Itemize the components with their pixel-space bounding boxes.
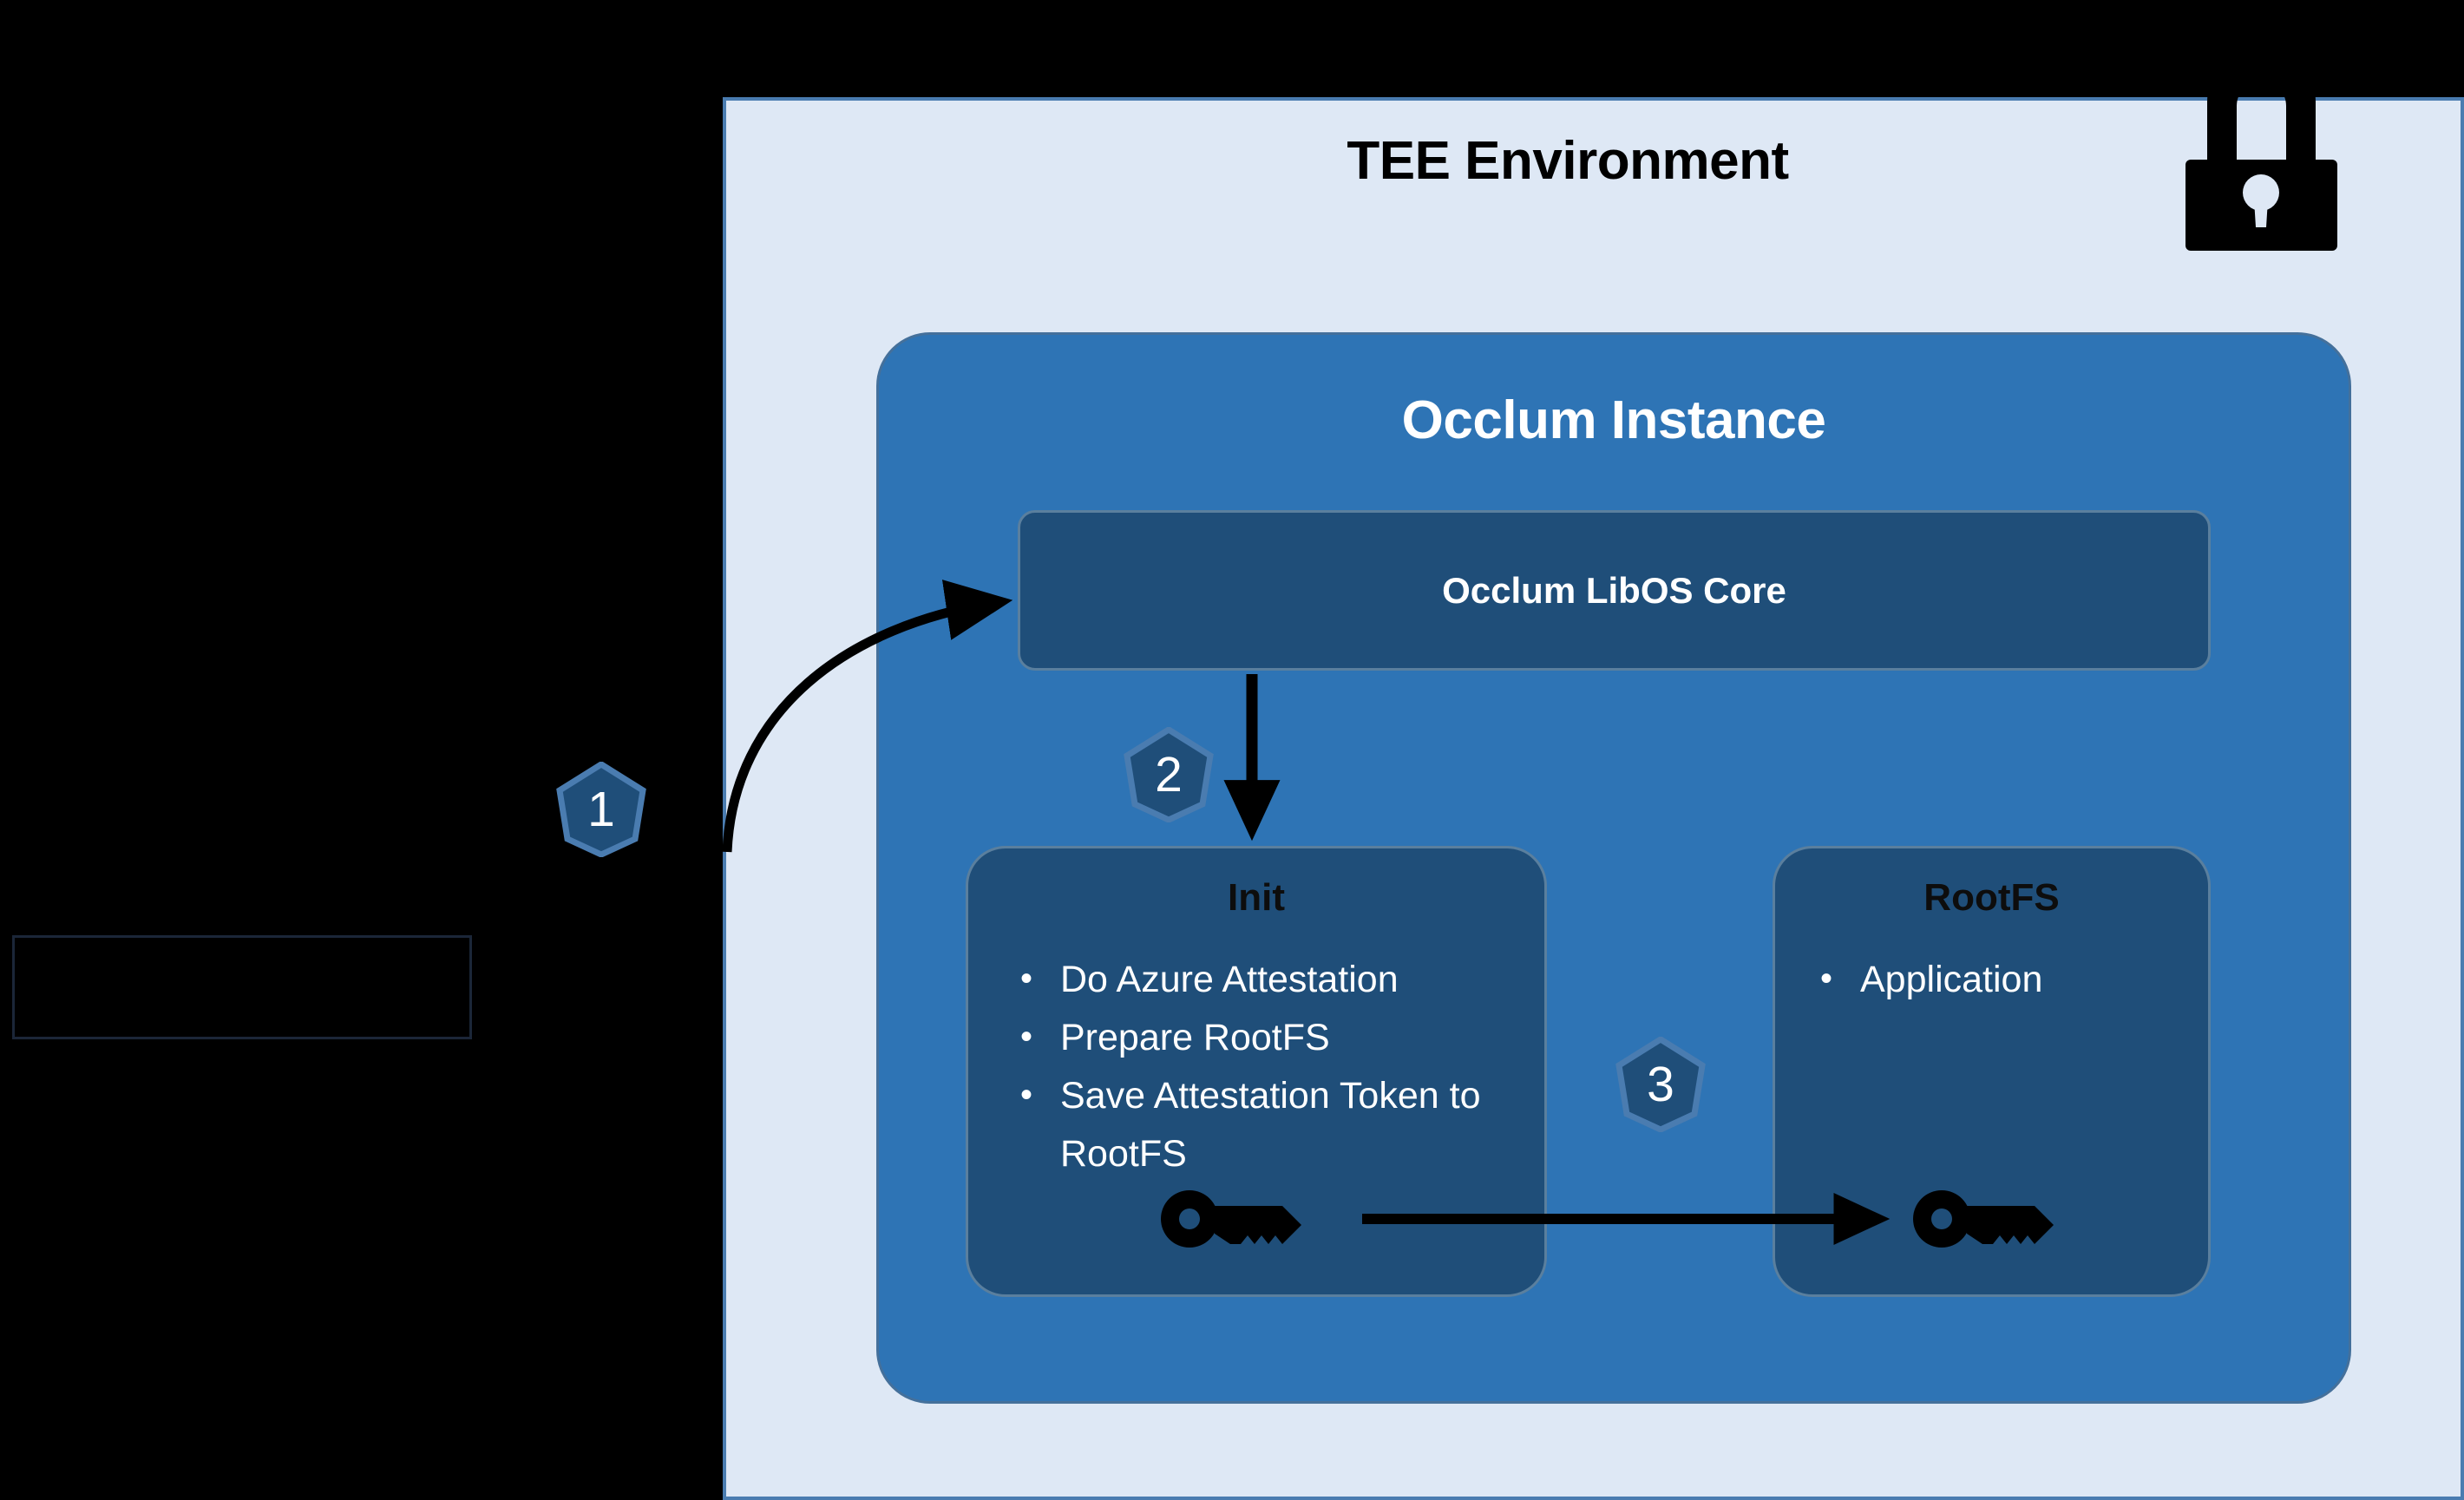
occlum-instance-title: Occlum Instance bbox=[879, 390, 2349, 451]
occlum-libos-core-box: Occlum LibOS Core bbox=[1018, 510, 2211, 671]
step-badge-1: 1 bbox=[550, 762, 652, 857]
key-icon bbox=[1161, 1190, 1317, 1248]
init-title: Init bbox=[968, 876, 1544, 920]
init-bullet-item: Prepare RootFS bbox=[1010, 1009, 1530, 1067]
init-bullet-item: Do Azure Attestation bbox=[1010, 951, 1530, 1009]
rootfs-bullet-item: Application bbox=[1810, 951, 2183, 1009]
left-placeholder-box bbox=[12, 935, 472, 1039]
init-bullet-item: Save Attestation Token to RootFS bbox=[1010, 1067, 1530, 1183]
init-bullet-list: Do Azure Attestation Prepare RootFS Save… bbox=[1010, 951, 1530, 1183]
rootfs-bullet-list: Application bbox=[1810, 951, 2183, 1009]
rootfs-title: RootFS bbox=[1775, 876, 2208, 920]
step-badge-2: 2 bbox=[1117, 727, 1220, 822]
key-icon bbox=[1913, 1190, 2069, 1248]
occlum-libos-core-label: Occlum LibOS Core bbox=[1442, 570, 1786, 612]
step-badge-3: 3 bbox=[1609, 1037, 1712, 1132]
padlock-icon bbox=[2168, 80, 2355, 253]
